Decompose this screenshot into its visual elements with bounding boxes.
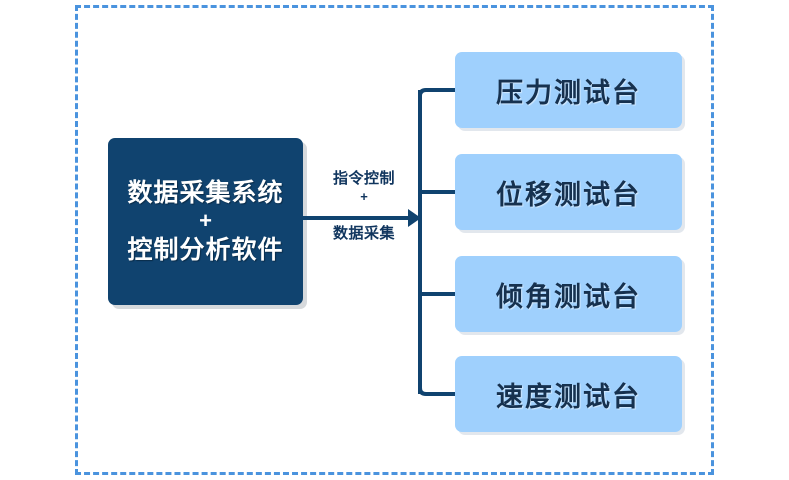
bench-box-speed[interactable]: 速度测试台 bbox=[455, 356, 682, 432]
diagram-root: 数据采集系统 + 控制分析软件 指令控制 + 数据采集 压力测试台 位移测试台 … bbox=[0, 0, 789, 480]
bench-box-displacement[interactable]: 位移测试台 bbox=[455, 154, 682, 230]
bench-label: 位移测试台 bbox=[496, 173, 641, 212]
bench-box-pressure[interactable]: 压力测试台 bbox=[455, 52, 682, 128]
connector-label-line-1: 指令控制 bbox=[310, 170, 418, 188]
system-box-line-1: 数据采集系统 bbox=[127, 178, 283, 209]
system-box[interactable]: 数据采集系统 + 控制分析软件 bbox=[108, 138, 303, 305]
bench-box-inclination[interactable]: 倾角测试台 bbox=[455, 256, 682, 332]
bench-label: 压力测试台 bbox=[496, 71, 641, 110]
connector-label: 指令控制 + 数据采集 bbox=[310, 170, 418, 243]
bench-label: 倾角测试台 bbox=[496, 275, 641, 314]
system-box-plus: + bbox=[199, 209, 212, 233]
connector-label-line-2: 数据采集 bbox=[310, 225, 418, 243]
connector-label-plus: + bbox=[310, 188, 418, 206]
bench-label: 速度测试台 bbox=[496, 375, 641, 414]
system-box-line-2: 控制分析软件 bbox=[127, 235, 283, 266]
